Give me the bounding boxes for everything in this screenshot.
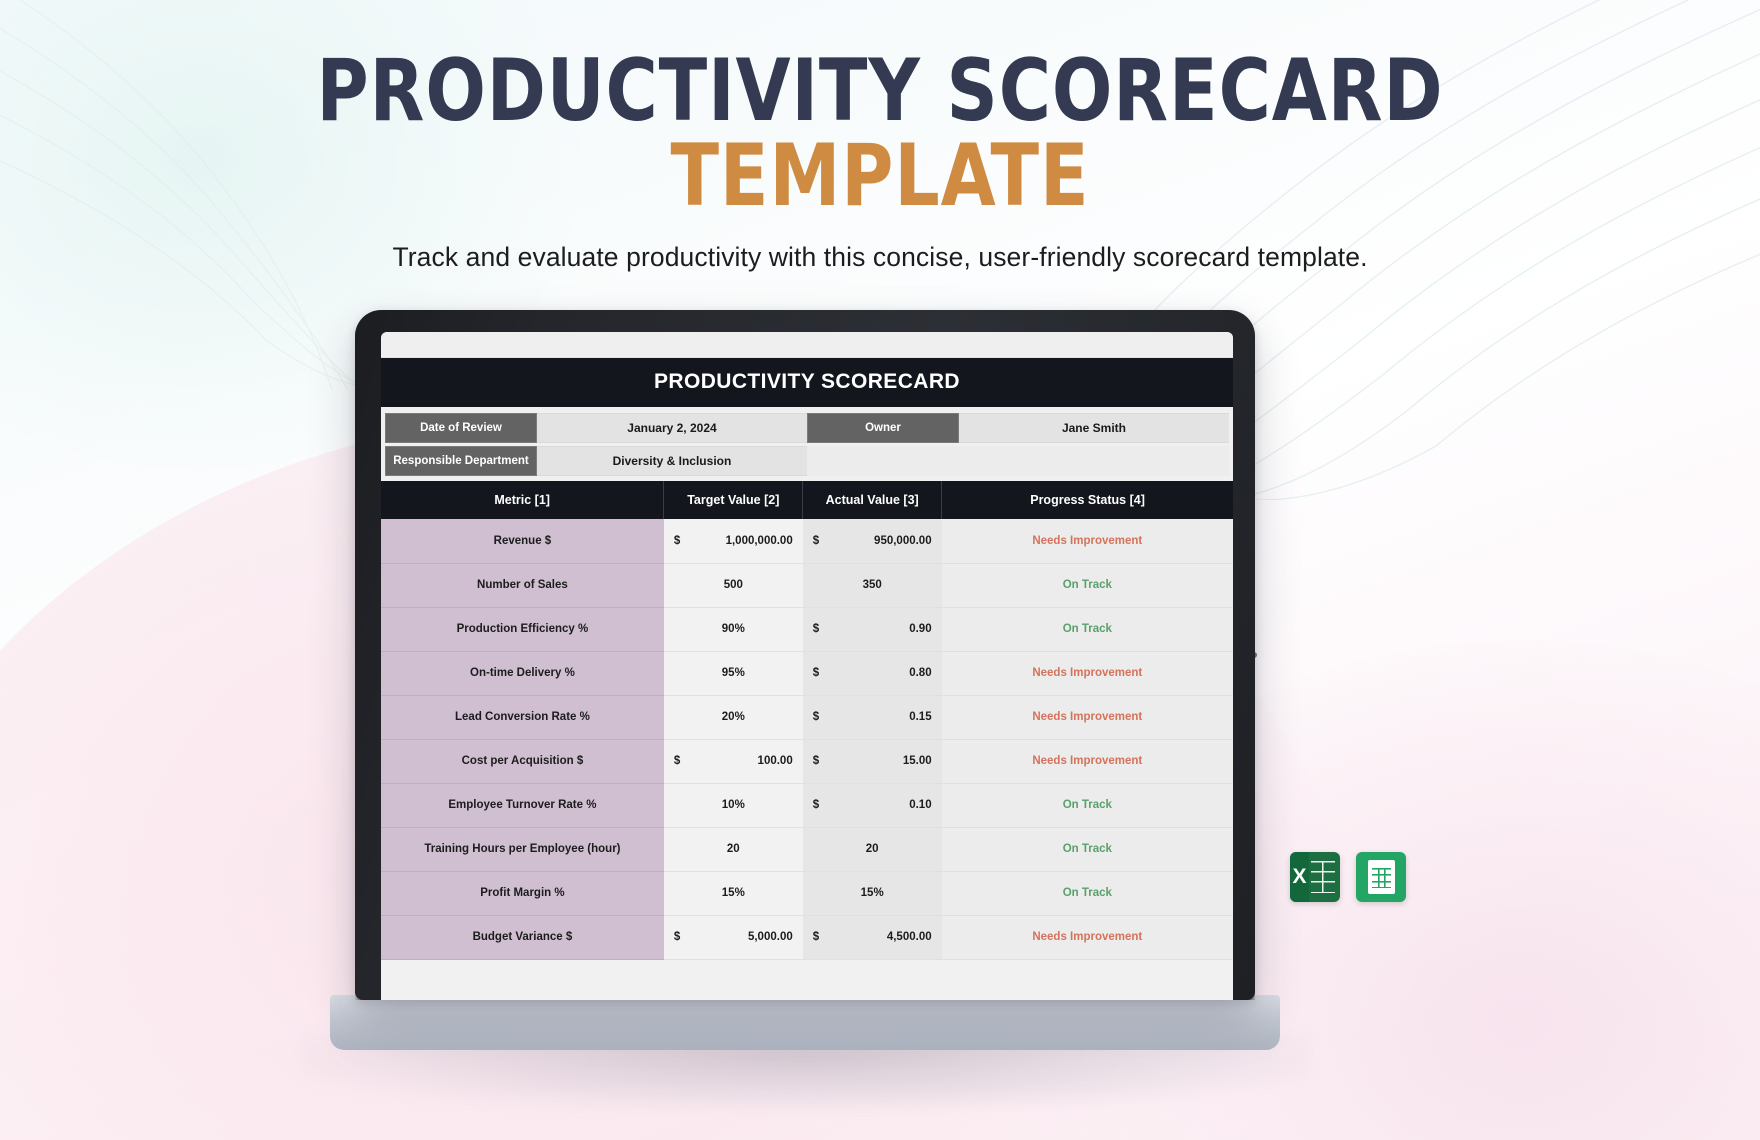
currency-symbol: $ [813, 535, 819, 547]
cell-value: 4,500.00 [813, 916, 932, 959]
cell-progress-status[interactable]: On Track [942, 563, 1233, 607]
column-header-target-value[interactable]: Target Value [2] [664, 481, 803, 519]
currency-symbol: $ [674, 755, 680, 767]
spreadsheet-top-strip [381, 332, 1233, 358]
status-badge: On Track [1063, 799, 1112, 811]
cell-actual-value[interactable]: 15% [803, 871, 942, 915]
cell-actual-value[interactable]: $0.10 [803, 783, 942, 827]
cell-progress-status[interactable]: On Track [942, 607, 1233, 651]
cell-value: 0.15 [813, 696, 932, 739]
google-sheets-icon[interactable] [1356, 852, 1406, 902]
currency-symbol: $ [813, 667, 819, 679]
cell-value: 950,000.00 [813, 519, 932, 563]
cell-target-value[interactable]: 90% [664, 607, 803, 651]
cell-metric[interactable]: Employee Turnover Rate % [381, 783, 664, 827]
table-row: Profit Margin %15%15%On Track [381, 871, 1233, 915]
currency-symbol: $ [674, 931, 680, 943]
table-row: Cost per Acquisition $$100.00$15.00Needs… [381, 739, 1233, 783]
file-format-icons: X [1290, 852, 1406, 902]
cell-value: 5,000.00 [674, 916, 793, 959]
cell-target-value[interactable]: 15% [664, 871, 803, 915]
currency-symbol: $ [674, 535, 680, 547]
info-row: Responsible Department Diversity & Inclu… [381, 446, 1233, 476]
table-row: On-time Delivery %95%$0.80Needs Improvem… [381, 651, 1233, 695]
currency-symbol: $ [813, 931, 819, 943]
status-badge: Needs Improvement [1032, 535, 1142, 547]
cell-progress-status[interactable]: Needs Improvement [942, 915, 1233, 959]
google-sheets-icon-page [1368, 860, 1395, 894]
cell-value: 95% [674, 652, 793, 695]
page-header: PRODUCTIVITY SCORECARD TEMPLATE Track an… [0, 0, 1760, 273]
scorecard-table: Metric [1] Target Value [2] Actual Value… [381, 481, 1233, 960]
cell-metric[interactable]: Training Hours per Employee (hour) [381, 827, 664, 871]
cell-value: 20% [674, 696, 793, 739]
status-badge: Needs Improvement [1032, 711, 1142, 723]
status-badge: On Track [1063, 623, 1112, 635]
table-row: Budget Variance $$5,000.00$4,500.00Needs… [381, 915, 1233, 959]
info-label-owner: Owner [807, 413, 959, 443]
cell-value: 100.00 [674, 740, 793, 783]
cell-progress-status[interactable]: Needs Improvement [942, 739, 1233, 783]
cell-target-value[interactable]: 20 [664, 827, 803, 871]
info-label-date-of-review: Date of Review [385, 413, 537, 443]
cell-metric[interactable]: Profit Margin % [381, 871, 664, 915]
cell-actual-value[interactable]: $0.80 [803, 651, 942, 695]
currency-symbol: $ [813, 623, 819, 635]
cell-target-value[interactable]: 500 [664, 563, 803, 607]
cell-actual-value[interactable]: $4,500.00 [803, 915, 942, 959]
info-row: Date of Review January 2, 2024 Owner Jan… [381, 413, 1233, 443]
cell-progress-status[interactable]: Needs Improvement [942, 651, 1233, 695]
cell-metric[interactable]: Number of Sales [381, 563, 664, 607]
info-value-responsible-department[interactable]: Diversity & Inclusion [537, 446, 807, 476]
cell-metric[interactable]: Cost per Acquisition $ [381, 739, 664, 783]
table-row: Lead Conversion Rate %20%$0.15Needs Impr… [381, 695, 1233, 739]
cell-value: 10% [674, 784, 793, 827]
cell-progress-status[interactable]: Needs Improvement [942, 695, 1233, 739]
table-row: Production Efficiency %90%$0.90On Track [381, 607, 1233, 651]
cell-target-value[interactable]: 95% [664, 651, 803, 695]
status-badge: Needs Improvement [1032, 667, 1142, 679]
table-header-row: Metric [1] Target Value [2] Actual Value… [381, 481, 1233, 519]
cell-value: 500 [674, 564, 793, 607]
cell-actual-value[interactable]: 350 [803, 563, 942, 607]
info-label-empty [807, 446, 959, 476]
status-badge: On Track [1063, 843, 1112, 855]
info-label-responsible-department: Responsible Department [385, 446, 537, 476]
cell-target-value[interactable]: 10% [664, 783, 803, 827]
info-value-owner[interactable]: Jane Smith [959, 413, 1229, 443]
page-title-line1: PRODUCTIVITY SCORECARD [70, 50, 1689, 133]
google-sheets-icon-grid [1372, 868, 1391, 888]
tablet-mockup: PRODUCTIVITY SCORECARD Date of Review Ja… [355, 310, 1255, 1000]
excel-icon-letter: X [1290, 852, 1309, 902]
cell-value: 15% [674, 872, 793, 915]
cell-value: 1,000,000.00 [674, 519, 793, 563]
cell-progress-status[interactable]: On Track [942, 827, 1233, 871]
cell-metric[interactable]: Lead Conversion Rate % [381, 695, 664, 739]
table-row: Number of Sales500350On Track [381, 563, 1233, 607]
cell-value: 15% [813, 872, 932, 915]
info-value-date-of-review[interactable]: January 2, 2024 [537, 413, 807, 443]
cell-value: 20 [674, 828, 793, 871]
excel-icon-grid [1311, 861, 1335, 893]
status-badge: On Track [1063, 579, 1112, 591]
cell-value: 15.00 [813, 740, 932, 783]
cell-metric[interactable]: On-time Delivery % [381, 651, 664, 695]
cell-metric[interactable]: Budget Variance $ [381, 915, 664, 959]
column-header-progress-status[interactable]: Progress Status [4] [942, 481, 1233, 519]
info-value-empty[interactable] [959, 446, 1229, 476]
column-header-metric[interactable]: Metric [1] [381, 481, 664, 519]
excel-icon[interactable]: X [1290, 852, 1340, 902]
cell-progress-status[interactable]: Needs Improvement [942, 519, 1233, 563]
cell-value: 0.10 [813, 784, 932, 827]
cell-progress-status[interactable]: On Track [942, 783, 1233, 827]
cell-actual-value[interactable]: $15.00 [803, 739, 942, 783]
table-row: Employee Turnover Rate %10%$0.10On Track [381, 783, 1233, 827]
cell-value: 90% [674, 608, 793, 651]
cell-target-value[interactable]: $1,000,000.00 [664, 519, 803, 563]
table-row: Training Hours per Employee (hour)2020On… [381, 827, 1233, 871]
tablet-bezel: PRODUCTIVITY SCORECARD Date of Review Ja… [355, 310, 1255, 1000]
status-badge: Needs Improvement [1032, 931, 1142, 943]
page-subtitle: Track and evaluate productivity with thi… [0, 242, 1760, 273]
table-row: Revenue $$1,000,000.00$950,000.00Needs I… [381, 519, 1233, 563]
cell-metric[interactable]: Production Efficiency % [381, 607, 664, 651]
cell-progress-status[interactable]: On Track [942, 871, 1233, 915]
cell-value: 350 [813, 564, 932, 607]
cell-actual-value[interactable]: 20 [803, 827, 942, 871]
currency-symbol: $ [813, 711, 819, 723]
table-body: Revenue $$1,000,000.00$950,000.00Needs I… [381, 519, 1233, 959]
cell-value: 0.90 [813, 608, 932, 651]
cell-target-value[interactable]: 20% [664, 695, 803, 739]
tablet-base [330, 995, 1280, 1050]
currency-symbol: $ [813, 755, 819, 767]
tablet-screen: PRODUCTIVITY SCORECARD Date of Review Ja… [381, 332, 1233, 1000]
column-header-actual-value[interactable]: Actual Value [3] [803, 481, 942, 519]
cell-value: 0.80 [813, 652, 932, 695]
status-badge: On Track [1063, 887, 1112, 899]
status-badge: Needs Improvement [1032, 755, 1142, 767]
cell-target-value[interactable]: $100.00 [664, 739, 803, 783]
currency-symbol: $ [813, 799, 819, 811]
cell-target-value[interactable]: $5,000.00 [664, 915, 803, 959]
scorecard-banner-title: PRODUCTIVITY SCORECARD [381, 358, 1233, 407]
cell-actual-value[interactable]: $0.90 [803, 607, 942, 651]
scorecard-info-block: Date of Review January 2, 2024 Owner Jan… [381, 407, 1233, 481]
cell-actual-value[interactable]: $950,000.00 [803, 519, 942, 563]
cell-metric[interactable]: Revenue $ [381, 519, 664, 563]
cell-value: 20 [813, 828, 932, 871]
cell-actual-value[interactable]: $0.15 [803, 695, 942, 739]
page-title-line2: TEMPLATE [70, 133, 1689, 221]
